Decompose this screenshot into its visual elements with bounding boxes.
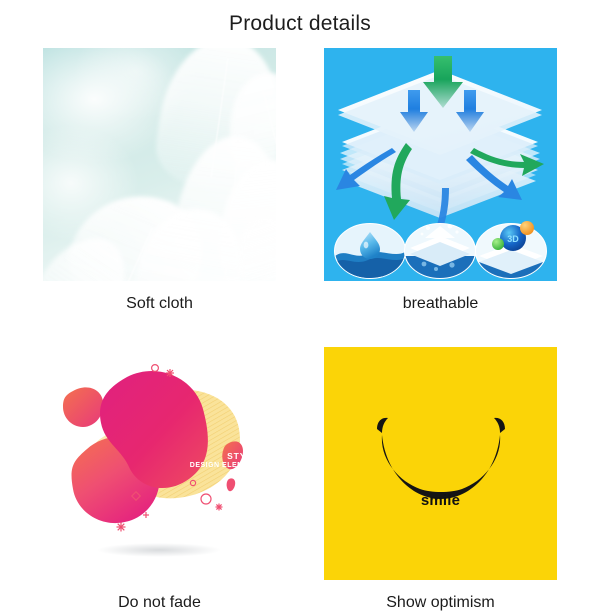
- 3d-sphere-label: 3D: [507, 234, 519, 244]
- inset-layered-structure: [405, 224, 475, 279]
- green-sphere-icon: [492, 238, 504, 250]
- product-image-do-not-fade[interactable]: STYLE DESIGN ELEMENT: [43, 347, 276, 580]
- fluid-blob-illustration: STYLE DESIGN ELEMENT: [43, 347, 276, 580]
- page-title: Product details: [0, 0, 600, 40]
- blob-ground-shadow: [97, 543, 221, 557]
- orange-sphere-icon: [520, 221, 534, 235]
- product-caption-breathable: breathable: [403, 293, 479, 315]
- inset-water-repellent: [335, 224, 405, 278]
- product-image-breathable[interactable]: 3D: [324, 48, 557, 281]
- product-image-grid: Soft cloth: [0, 48, 600, 614]
- breathable-illustration: 3D: [324, 48, 557, 281]
- feather-texture-image: [43, 48, 276, 281]
- product-caption-show-optimism: Show optimism: [386, 592, 494, 614]
- product-cell-show-optimism[interactable]: smile Show optimism: [324, 347, 557, 614]
- product-cell-breathable[interactable]: 3D breathable: [324, 48, 557, 315]
- product-details-page: Product details: [0, 0, 600, 600]
- product-caption-soft-cloth: Soft cloth: [126, 293, 193, 315]
- product-image-soft-cloth[interactable]: [43, 48, 276, 281]
- grid-row-1: Soft cloth: [0, 48, 600, 315]
- grid-row-2: STYLE DESIGN ELEMENT Do not fade: [0, 347, 600, 614]
- smile-label: smile: [324, 492, 557, 509]
- yellow-background: [324, 347, 557, 580]
- product-cell-do-not-fade[interactable]: STYLE DESIGN ELEMENT Do not fade: [43, 347, 276, 614]
- product-image-show-optimism[interactable]: smile: [324, 347, 557, 580]
- product-cell-soft-cloth[interactable]: Soft cloth: [43, 48, 276, 315]
- product-caption-do-not-fade: Do not fade: [118, 592, 201, 614]
- smile-illustration: smile: [324, 347, 557, 580]
